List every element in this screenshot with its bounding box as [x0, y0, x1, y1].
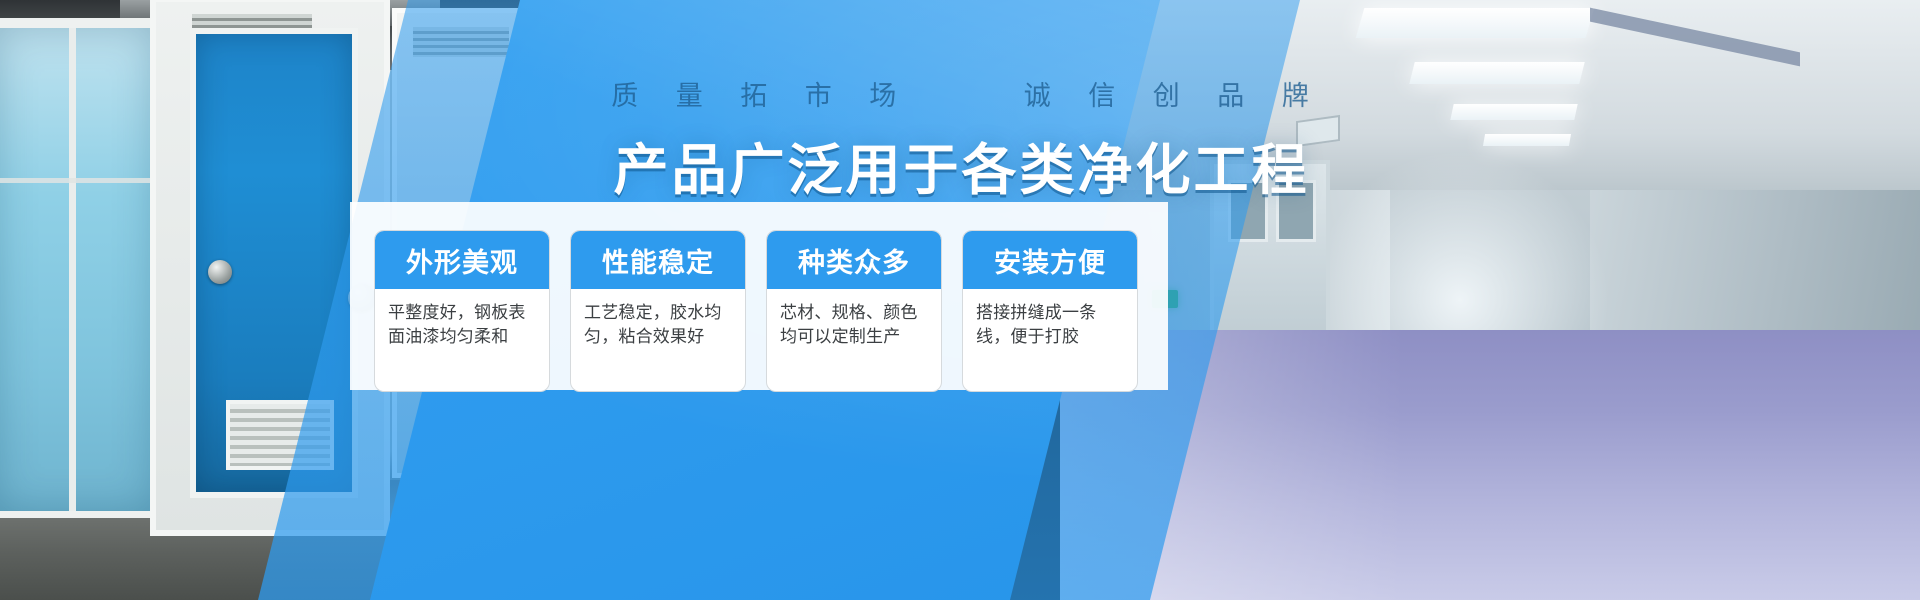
- feature-card-body: 搭接拼缝成一条线，便于打胶: [963, 289, 1137, 391]
- feature-card[interactable]: 种类众多 芯材、规格、颜色均可以定制生产: [766, 230, 942, 392]
- feature-card[interactable]: 外形美观 平整度好，钢板表面油漆均匀柔和: [374, 230, 550, 392]
- feature-card-title: 性能稳定: [571, 231, 745, 289]
- cabin-rail: [0, 178, 153, 183]
- ceiling-light-icon: [1356, 8, 1595, 38]
- ceiling-light-icon: [1450, 104, 1577, 120]
- feature-card-title: 种类众多: [767, 231, 941, 289]
- feature-card[interactable]: 性能稳定 工艺稳定，胶水均匀，粘合效果好: [570, 230, 746, 392]
- cabin-mullion: [69, 28, 76, 511]
- cabin-lock-icon: [208, 260, 232, 284]
- feature-card-title: 外形美观: [375, 231, 549, 289]
- cabin-unit-glass: [0, 18, 160, 518]
- feature-card[interactable]: 安装方便 搭接拼缝成一条线，便于打胶: [962, 230, 1138, 392]
- feature-card-panel: 外形美观 平整度好，钢板表面油漆均匀柔和 性能稳定 工艺稳定，胶水均匀，粘合效果…: [350, 202, 1168, 390]
- ceiling-light-icon: [1409, 62, 1584, 84]
- feature-card-title: 安装方便: [963, 231, 1137, 289]
- ceiling-light-icon: [1483, 134, 1571, 146]
- feature-card-body: 平整度好，钢板表面油漆均匀柔和: [375, 289, 549, 391]
- door-window: [1276, 180, 1316, 242]
- product-banner: 质 量 拓 市 场 诚 信 创 品 牌 产品广泛用于各类净化工程 外形美观 平整…: [0, 0, 1920, 600]
- feature-card-body: 芯材、规格、颜色均可以定制生产: [767, 289, 941, 391]
- feature-card-body: 工艺稳定，胶水均匀，粘合效果好: [571, 289, 745, 391]
